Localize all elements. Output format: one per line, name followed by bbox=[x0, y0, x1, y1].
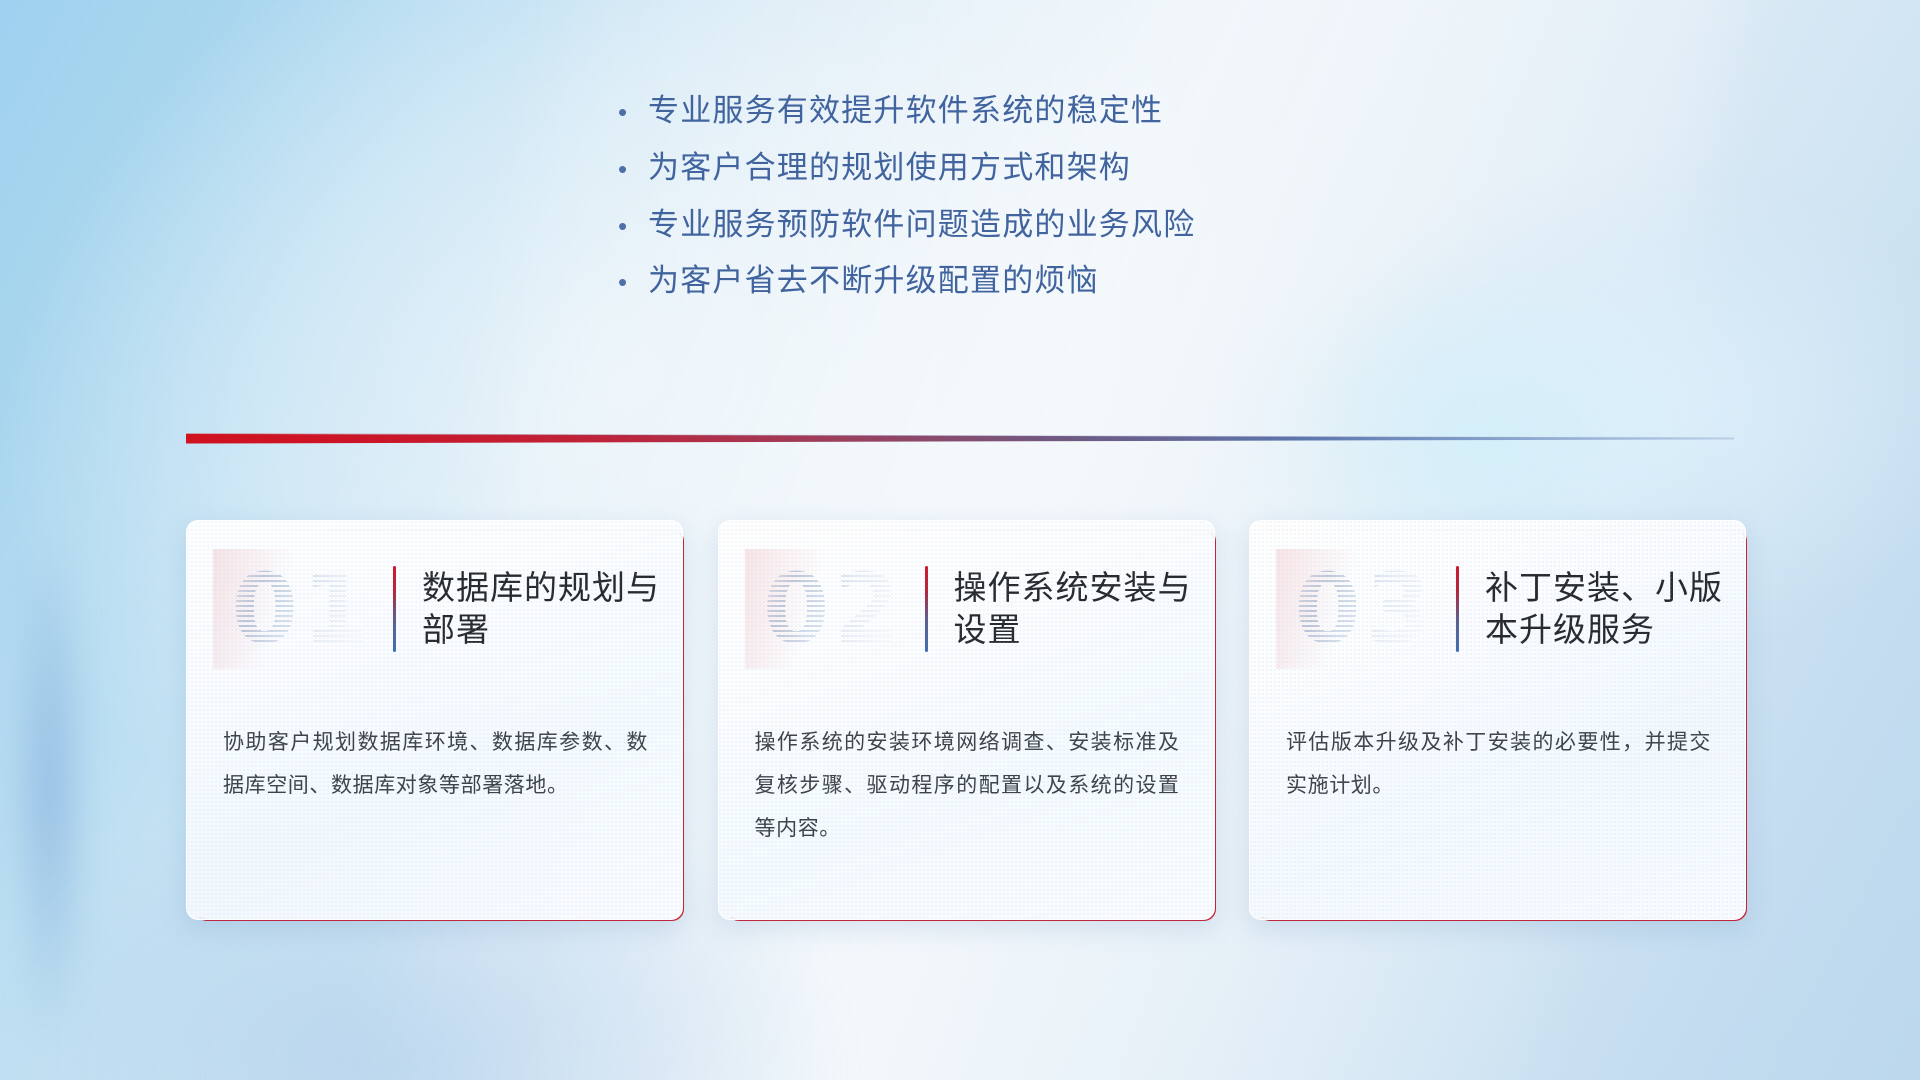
card-number-watermark: 01 bbox=[213, 549, 391, 669]
card-number-text: 02 bbox=[763, 561, 905, 657]
bullet-text: 为客户合理的规划使用方式和架构 bbox=[648, 149, 1131, 188]
service-card[interactable]: 02 操作系统安装与设置 操作系统的安装环境网络调查、安装标准及复核步骤、驱动程… bbox=[718, 520, 1215, 920]
list-item: • 专业服务预防软件问题造成的业务风险 bbox=[610, 206, 1310, 245]
card-description: 操作系统的安装环境网络调查、安装标准及复核步骤、驱动程序的配置以及系统的设置等内… bbox=[755, 721, 1180, 850]
bullet-text: 专业服务有效提升软件系统的稳定性 bbox=[648, 92, 1163, 131]
card-header: 03 补丁安装、小版本升级服务 bbox=[1250, 539, 1745, 679]
bullet-text: 为客户省去不断升级配置的烦恼 bbox=[648, 262, 1099, 301]
card-divider-bar-icon bbox=[1456, 566, 1459, 652]
section-divider bbox=[186, 430, 1734, 448]
bullet-dot-icon: • bbox=[618, 99, 648, 125]
divider-shape-icon bbox=[186, 430, 1734, 448]
card-divider-bar-icon bbox=[925, 566, 928, 652]
card-surface: 02 操作系统安装与设置 操作系统的安装环境网络调查、安装标准及复核步骤、驱动程… bbox=[718, 520, 1215, 920]
card-divider-bar-icon bbox=[393, 566, 396, 652]
card-header: 01 数据库的规划与部署 bbox=[187, 539, 682, 679]
list-item: • 为客户合理的规划使用方式和架构 bbox=[610, 149, 1310, 188]
card-surface: 03 补丁安装、小版本升级服务 评估版本升级及补丁安装的必要性，并提交实施计划。 bbox=[1249, 520, 1746, 920]
card-surface: 01 数据库的规划与部署 协助客户规划数据库环境、数据库参数、数据库空间、数据库… bbox=[186, 520, 683, 920]
card-description: 协助客户规划数据库环境、数据库参数、数据库空间、数据库对象等部署落地。 bbox=[223, 721, 648, 807]
card-title: 操作系统安装与设置 bbox=[954, 567, 1214, 651]
card-title: 补丁安装、小版本升级服务 bbox=[1485, 567, 1745, 651]
card-number-watermark: 02 bbox=[745, 549, 923, 669]
list-item: • 为客户省去不断升级配置的烦恼 bbox=[610, 262, 1310, 301]
service-card[interactable]: 01 数据库的规划与部署 协助客户规划数据库环境、数据库参数、数据库空间、数据库… bbox=[186, 520, 683, 920]
list-item: • 专业服务有效提升软件系统的稳定性 bbox=[610, 92, 1310, 131]
bullet-dot-icon: • bbox=[618, 156, 648, 182]
card-header: 02 操作系统安装与设置 bbox=[719, 539, 1214, 679]
service-card[interactable]: 03 补丁安装、小版本升级服务 评估版本升级及补丁安装的必要性，并提交实施计划。 bbox=[1249, 520, 1746, 920]
card-title: 数据库的规划与部署 bbox=[422, 567, 682, 651]
service-card-row: 01 数据库的规划与部署 协助客户规划数据库环境、数据库参数、数据库空间、数据库… bbox=[186, 520, 1746, 930]
card-number-watermark: 03 bbox=[1276, 549, 1454, 669]
card-number-text: 01 bbox=[231, 561, 373, 657]
bullet-text: 专业服务预防软件问题造成的业务风险 bbox=[648, 206, 1195, 245]
card-number-text: 03 bbox=[1294, 561, 1436, 657]
benefit-bullet-list: • 专业服务有效提升软件系统的稳定性 • 为客户合理的规划使用方式和架构 • 专… bbox=[0, 92, 1920, 319]
bullet-dot-icon: • bbox=[618, 269, 648, 295]
bullet-dot-icon: • bbox=[618, 213, 648, 239]
card-description: 评估版本升级及补丁安装的必要性，并提交实施计划。 bbox=[1286, 721, 1711, 807]
